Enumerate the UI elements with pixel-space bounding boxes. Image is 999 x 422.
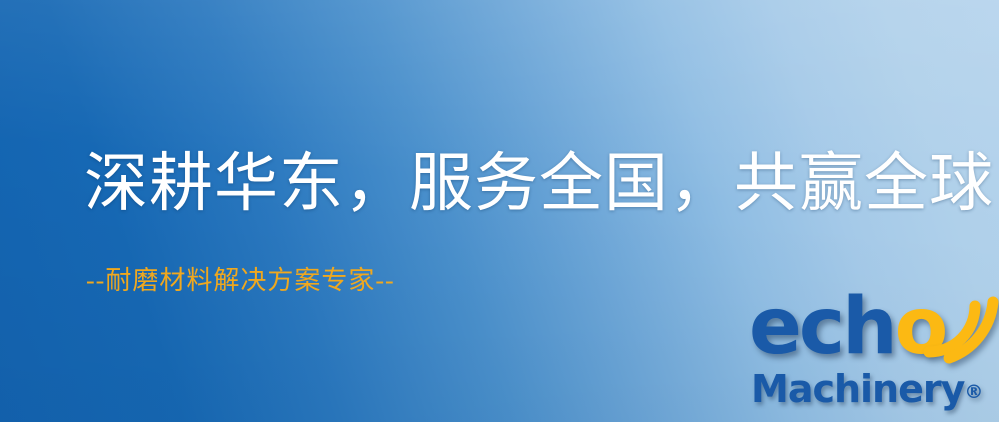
logo-tagline: Machinery® [751, 370, 983, 408]
registered-trademark-icon: ® [964, 381, 983, 403]
banner-subtitle: --耐磨材料解决方案专家-- [86, 268, 395, 294]
logo-text-ech: ech [749, 282, 895, 372]
signal-waves-icon [915, 292, 999, 364]
banner-headline: 深耕华东，服务全国，共赢全球 [84, 152, 994, 216]
promotional-banner: 深耕华东，服务全国，共赢全球 --耐磨材料解决方案专家-- echo Machi… [0, 0, 999, 422]
echo-machinery-logo: echo Machinery® [745, 292, 999, 422]
logo-tagline-text: Machinery [751, 367, 964, 411]
